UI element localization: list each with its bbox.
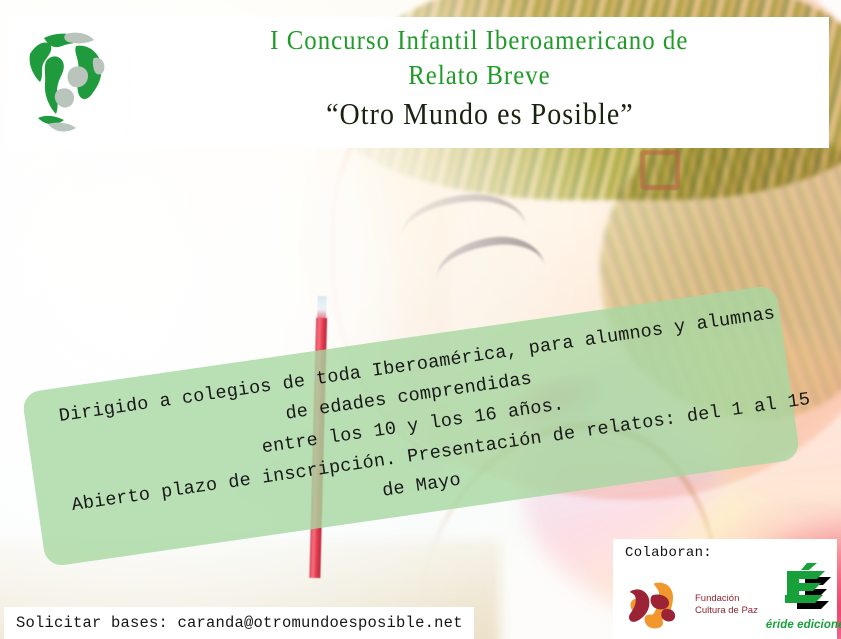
globe-logo-panel	[6, 17, 126, 148]
poster-canvas: I Concurso Infantil Iberoamericano de Re…	[0, 0, 841, 639]
contact-text[interactable]: Solicitar bases: caranda@otromundoesposi…	[16, 614, 463, 632]
peace-hands-icon	[625, 579, 691, 631]
title-quote: “Otro Mundo es Posible”	[326, 96, 634, 132]
eride-ediciones-logo[interactable]: éride ediciones	[766, 563, 841, 631]
eride-monogram-icon	[777, 563, 839, 613]
fundacion-label-line2: Cultura de Paz	[695, 605, 758, 617]
eride-label: éride ediciones	[766, 619, 841, 631]
collaborator-logos: Fundación Cultura de Paz	[625, 563, 829, 631]
fundacion-label-line1: Fundación	[695, 593, 758, 605]
globe-icon	[14, 24, 118, 142]
title-banner: I Concurso Infantil Iberoamericano de Re…	[130, 17, 829, 148]
pencil-tip	[317, 296, 327, 320]
contact-strip: Solicitar bases: caranda@otromundoesposi…	[4, 607, 474, 639]
fundacion-cultura-de-paz-logo[interactable]: Fundación Cultura de Paz	[625, 579, 758, 631]
fundacion-label: Fundación Cultura de Paz	[695, 593, 758, 616]
collaborators-heading: Colaboran:	[625, 545, 829, 561]
title-line-2: Relato Breve	[408, 58, 551, 93]
title-line-1: I Concurso Infantil Iberoamericano de	[270, 23, 688, 58]
collaborators-panel: Colaboran: Fundación	[613, 539, 837, 639]
